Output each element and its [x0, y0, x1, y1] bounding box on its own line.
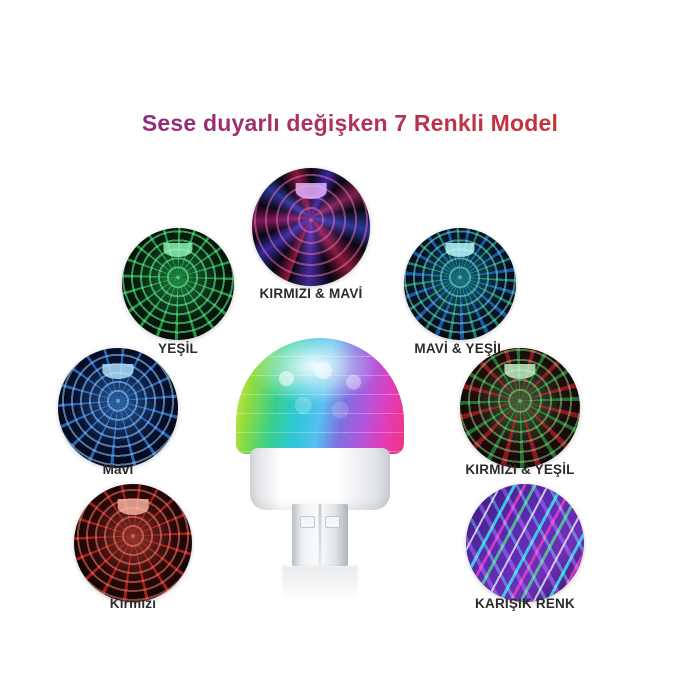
multicolor-speckle-overlay — [466, 484, 584, 602]
mode-swatch-mavi-yesil — [404, 228, 516, 340]
dome-highlight — [102, 364, 133, 380]
dome-facet-highlights — [236, 338, 404, 454]
mode-label-mavi: Mavi — [58, 462, 178, 477]
mode-label-kirmizi-mavi: KIRMIZI & MAVİ — [252, 286, 370, 301]
product-base — [250, 448, 390, 510]
mode-swatch-kirmizi — [74, 484, 192, 602]
rainbow-dome — [236, 338, 404, 454]
mode-label-kirmizi-yesil: KIRMIZI & YEŞİL — [446, 462, 594, 477]
dome-highlight — [504, 364, 535, 380]
mode-swatch-kirmizi-mavi — [252, 168, 370, 286]
usb-seam — [319, 504, 322, 566]
dome-highlight — [163, 243, 192, 258]
mode-swatch-yesil — [122, 228, 234, 340]
dome-highlight — [445, 243, 474, 258]
mode-label-karisik-renk: KARIŞIK RENK — [452, 596, 598, 611]
product-reflection — [282, 566, 358, 600]
usb-notch-left — [300, 516, 315, 528]
mode-label-kirmizi: Kırmızı — [74, 596, 192, 611]
product-image-canvas: Sese duyarlı değişken 7 Renkli Model KIR… — [0, 0, 700, 700]
mode-swatch-mavi — [58, 348, 178, 468]
mode-swatch-kirmizi-yesil — [460, 348, 580, 468]
page-title: Sese duyarlı değişken 7 Renkli Model — [0, 110, 700, 137]
product-photo — [236, 338, 404, 568]
usb-notch-right — [325, 516, 340, 528]
usb-connector — [292, 504, 348, 566]
mode-swatch-karisik-renk — [466, 484, 584, 602]
